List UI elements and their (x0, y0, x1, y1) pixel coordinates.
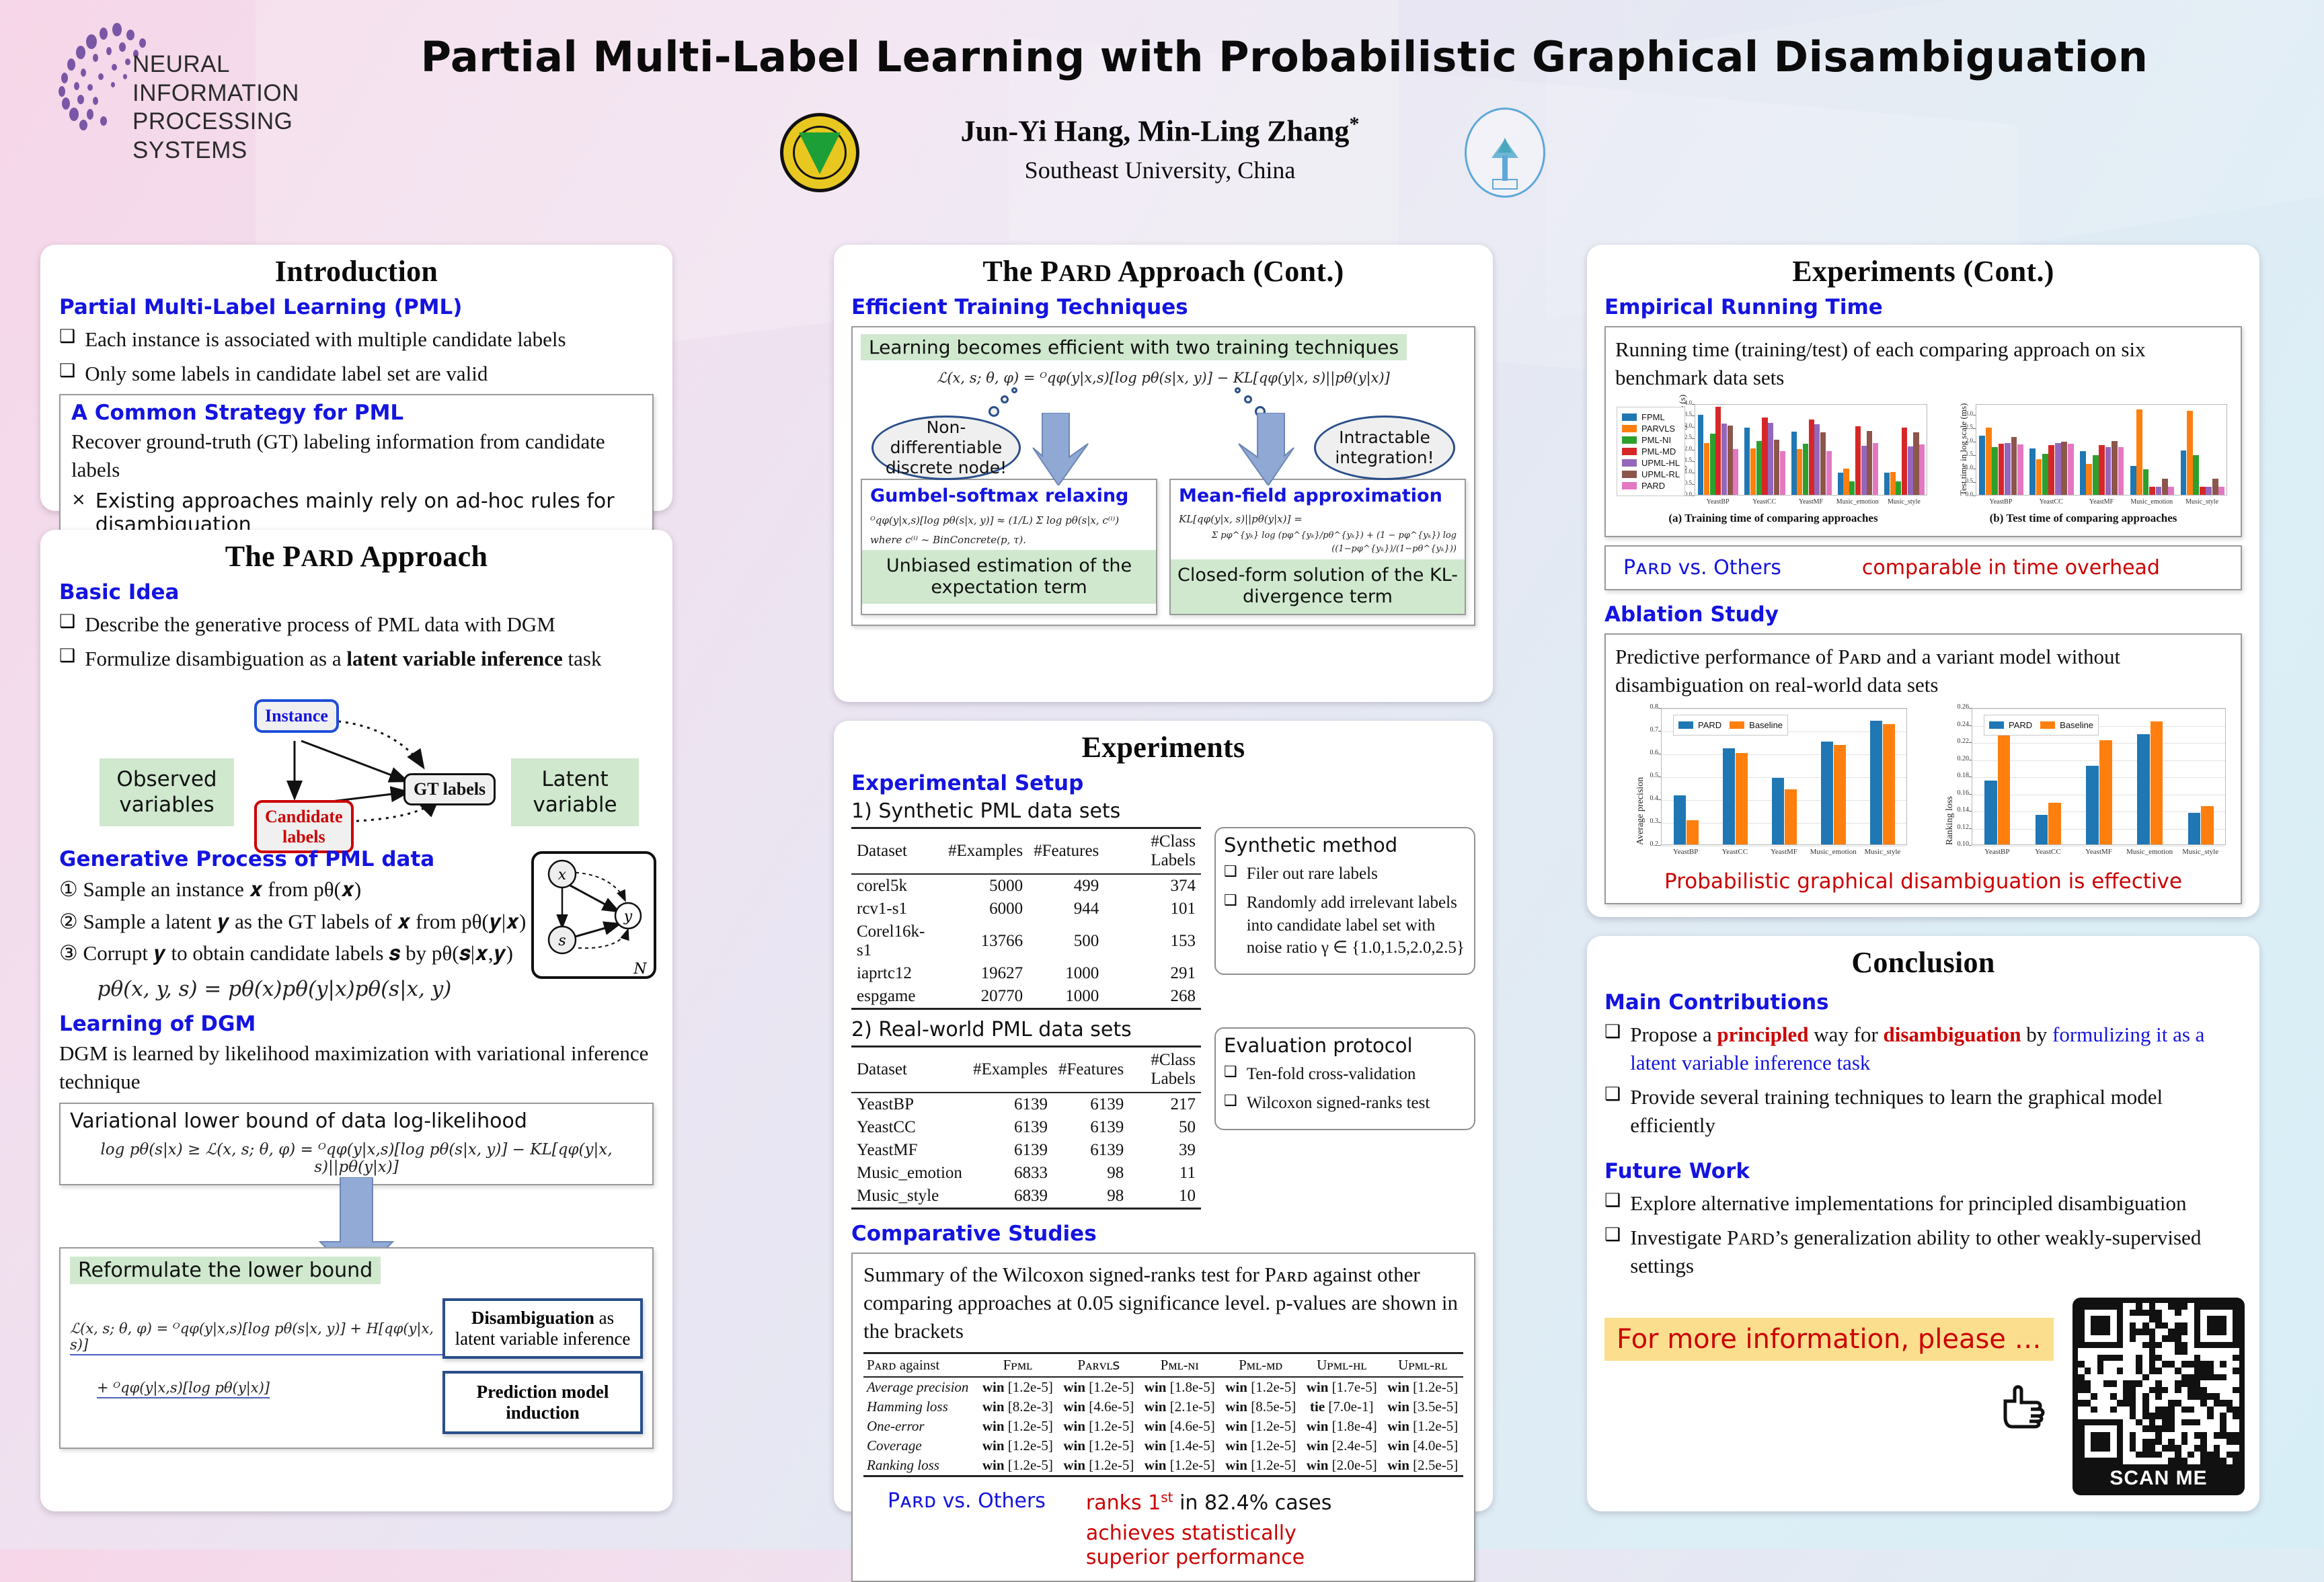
basic-idea-bullet-2: Formulize disambiguation as a latent var… (85, 645, 601, 673)
introduction-title: Introduction (40, 245, 672, 292)
y-tick-label: 0.14 (1946, 806, 1969, 814)
dgm-node-diagram: Instance GT labels Candidatelabels Obser… (40, 679, 672, 847)
table-row: Music_emotion68339811 (851, 1162, 1201, 1185)
gridline (1662, 709, 1906, 709)
checkbox-icon: ❑ (1604, 1083, 1621, 1106)
list-item: ❑ Describe the generative process of PML… (59, 610, 654, 639)
pard-approach-panel: The PARD Approach Basic Idea ❑ Describe … (40, 530, 672, 1511)
table-cell: win [4.0e-5] (1382, 1436, 1463, 1456)
table-cell: 217 (1129, 1093, 1201, 1116)
bar (2137, 734, 2150, 844)
running-time-box: Running time (training/test) of each com… (1604, 326, 2242, 537)
reformulate-equation-1: ℒ(x, s; θ, φ) = ᴼqφ(y|x,s)[log pθ(s|x, y… (70, 1320, 447, 1355)
y-tick-label: 1.0 (1958, 464, 1973, 471)
legend: FPMLPARVLSPML-NIPML-MDUPML-HLUPML-RLPARD (1617, 407, 1685, 496)
legend-item: Baseline (1730, 720, 1783, 730)
bar (1780, 451, 1785, 495)
x-tick-label: YeastMF (1787, 498, 1834, 506)
legend-swatch (1622, 471, 1637, 478)
bar (1873, 443, 1878, 495)
bar (2112, 441, 2118, 495)
y-tick (1658, 845, 1661, 846)
title-ard: ARD (1058, 260, 1112, 286)
bar (2036, 459, 2042, 494)
table-cell: 10 (1129, 1185, 1201, 1209)
x-tick-label: YeastBP (1972, 848, 2023, 856)
y-tick (1658, 731, 1661, 731)
wilcoxon-table: Pᴀʀᴅ againstFᴘᴍʟPᴀʀᴠʟꜱPᴍʟ-ɴɪPᴍʟ-ᴍᴅUᴘᴍʟ-ʜ… (863, 1352, 1463, 1477)
title-approach: Approach (354, 540, 488, 573)
verdict-left: Pᴀʀᴅ vs. Others (888, 1489, 1046, 1570)
legend-label: PML-MD (1641, 446, 1676, 457)
comparative-studies-box: Summary of the Wilcoxon signed-ranks tes… (851, 1253, 1475, 1582)
checkbox-icon: ❑ (1604, 1224, 1621, 1247)
running-time-verdict-box: Pᴀʀᴅ vs. Others comparable in time overh… (1604, 545, 2242, 590)
fw2-sc: ARD (1738, 1230, 1775, 1249)
y-tick-label: 0.16 (1946, 789, 1969, 797)
title-p: P (282, 540, 301, 573)
legend-item: PARD (1989, 720, 2032, 730)
table-cell: win [1.2e-5] (1058, 1417, 1139, 1436)
cloud-intractable: Intractable integration! (1314, 416, 1455, 480)
y-tick-label: 0.3 (1639, 818, 1658, 825)
table-cell: win [2.1e-5] (1139, 1397, 1220, 1417)
bubble-dot (1244, 395, 1252, 403)
bar (1838, 473, 1843, 494)
strategy-line-1: Recover ground-truth (GT) labeling infor… (71, 428, 642, 484)
table-cell: corel5k (851, 874, 943, 898)
table-cell: win [1.2e-5] (1221, 1436, 1301, 1456)
comparative-caption: Summary of the Wilcoxon signed-ranks tes… (863, 1261, 1463, 1345)
bar (1733, 449, 1738, 494)
gumbel-subheading: Gumbel-softmax relaxing (870, 485, 1148, 506)
node-instance: Instance (254, 699, 339, 733)
bar (1744, 428, 1750, 495)
legend-item: UPML-RL (1622, 469, 1680, 479)
reformulate-lower-bound-box: Reformulate the lower bound ℒ(x, s; θ, φ… (59, 1247, 654, 1449)
bar (1756, 441, 1762, 494)
checkbox-icon: ❑ (1224, 1063, 1237, 1080)
bar (2187, 411, 2193, 494)
table-cell: Hamming loss (863, 1397, 977, 1417)
table-cell: Corel16k-s1 (851, 920, 943, 962)
basic-idea-subheading: Basic Idea (59, 580, 654, 604)
y-tick-label: 0.4 (1639, 795, 1658, 802)
list-item: ❑ Wilcoxon signed-ranks test (1224, 1092, 1466, 1115)
y-tick (1973, 482, 1976, 483)
legend-label: FPML (1641, 412, 1665, 422)
author-names: Jun-Yi Hang, Min-Ling Zhang* (881, 113, 1439, 149)
arrow-down-left-icon (1030, 413, 1104, 485)
cross-icon: × (71, 489, 86, 510)
bar (2080, 451, 2086, 495)
palm-lab-logo-icon (1465, 108, 1545, 198)
bar (1870, 721, 1882, 845)
experiments-cont-panel: Experiments (Cont.) Empirical Running Ti… (1587, 245, 2259, 917)
bar (1986, 428, 1992, 495)
y-tick (1692, 427, 1695, 428)
table-row: corel5k5000499374 (851, 874, 1201, 898)
y-tick (1692, 496, 1695, 496)
bar (2162, 479, 2168, 495)
bar (2149, 487, 2155, 495)
x-tick-label: YeastCC (2023, 848, 2074, 856)
table-row: rcv1-s16000944101 (851, 898, 1201, 920)
ablation-verdict: Probabilistic graphical disambiguation i… (1615, 869, 2231, 894)
legend-item: PARVLS (1622, 424, 1680, 434)
y-tick (1692, 461, 1695, 462)
bar (1984, 781, 1997, 845)
x-tick-label: Music_emotion (2124, 848, 2175, 856)
y-tick (1969, 845, 1972, 846)
bar (1820, 432, 1826, 494)
reformulate-equation-2: + ᴼqφ(y|x,s)[log pθ(y|x)] (97, 1380, 270, 1398)
bar (2029, 448, 2036, 494)
checkbox-icon: ❑ (1604, 1021, 1621, 1043)
pml-bullet-1: Each instance is associated with multipl… (85, 325, 566, 354)
table-row: YeastCC6139613950 (851, 1116, 1201, 1139)
page-title: Partial Multi-Label Learning with Probab… (377, 32, 2192, 81)
bar (1896, 481, 1901, 495)
y-tick (1658, 754, 1661, 754)
pard-cont-main-equation: ℒ(x, s; θ, φ) = ᴼqφ(y|x,s)[log pθ(s|x, y… (861, 370, 1466, 386)
authors-block: Jun-Yi Hang, Min-Ling Zhang* Southeast U… (740, 108, 1580, 202)
y-tick (1973, 469, 1976, 469)
running-verdict-left: Pᴀʀᴅ vs. Others (1623, 556, 1781, 580)
title-the: The (982, 255, 1040, 288)
vlb-equation: log pθ(s|x) ≥ ℒ(x, s; θ, φ) = ᴼqφ(y|x,s)… (70, 1141, 643, 1176)
table-cell: 6000 (943, 898, 1028, 920)
bar (2099, 740, 2112, 845)
y-tick-label: 4.0 (1677, 399, 1692, 406)
conclusion-panel: Conclusion Main Contributions ❑ Propose … (1587, 936, 2259, 1511)
chart-ranking-loss: Ranking loss0.100.120.140.160.180.200.22… (1922, 704, 2231, 863)
list-item: ❑ Provide several training techniques to… (1604, 1083, 2242, 1140)
y-tick-label: 0.18 (1946, 772, 1969, 779)
meanfield-footer: Closed-form solution of the KL-divergenc… (1171, 559, 1465, 614)
bar (1849, 481, 1855, 495)
ablation-study-subheading: Ablation Study (1604, 602, 2242, 627)
experiments-cont-title: Experiments (Cont.) (1587, 245, 2259, 292)
legend-label: Baseline (1749, 720, 1783, 730)
table-cell: win [4.6e-5] (1139, 1417, 1220, 1436)
table-header-cell: Pᴍʟ-ɴɪ (1139, 1353, 1220, 1377)
checkbox-icon: ❑ (1224, 892, 1237, 909)
y-tick (1658, 708, 1661, 709)
bar (2206, 487, 2212, 495)
qr-code[interactable]: SCAN ME (2073, 1298, 2245, 1495)
checkbox-icon: ❑ (59, 360, 75, 383)
cloud-non-differentiable: Non-differentiable discrete node! (871, 416, 1021, 480)
legend-swatch (1678, 721, 1693, 729)
bubble-dot (1001, 395, 1009, 403)
bar (2017, 444, 2023, 495)
conclusion-title: Conclusion (1587, 936, 2259, 984)
bubble-dot (1235, 387, 1241, 393)
table-row: Average precisionwin [1.2e-5]win [1.2e-5… (863, 1377, 1463, 1397)
mc1-part1: Propose a (1630, 1023, 1717, 1046)
x-tick-label: YeastCC (1741, 498, 1787, 506)
reformulate-label: Reformulate the lower bound (70, 1257, 381, 1284)
table-row: Music_style68399810 (851, 1185, 1201, 1209)
node-gt-labels: GT labels (403, 773, 496, 805)
bar (1768, 423, 1773, 494)
y-tick (1969, 811, 1972, 812)
ablation-study-box: Predictive performance of Pᴀʀᴅ and a var… (1604, 633, 2242, 905)
legend-label: UPML-RL (1641, 469, 1680, 479)
legend-label: PML-NI (1641, 435, 1671, 445)
table-cell: 153 (1104, 920, 1201, 962)
svg-text:x: x (558, 867, 567, 883)
label-latent-variable: Latentvariable (511, 758, 639, 827)
legend-item: UPML-HL (1622, 458, 1680, 468)
table-cell: win [1.2e-5] (1221, 1417, 1301, 1436)
table-header-cell: Pᴀʀᴅ against (863, 1353, 977, 1377)
table-cell: Average precision (863, 1377, 977, 1397)
bubble-dot (1011, 387, 1017, 393)
table-cell: 6833 (968, 1162, 1053, 1185)
gumbel-footer: Unbiased estimation of the expectation t… (862, 550, 1156, 604)
table-cell: 98 (1053, 1185, 1129, 1209)
title-rest: Approach (Cont.) (1112, 255, 1344, 288)
bar (1728, 426, 1733, 495)
table-header-cell: Uᴘᴍʟ-ʀʟ (1382, 1353, 1463, 1377)
table-cell: win [1.8e-4] (1301, 1417, 1382, 1436)
pard-approach-title: The PARD Approach (40, 530, 672, 578)
col-features: #Features (1028, 828, 1104, 875)
verdict-rank-b: st (1161, 1489, 1173, 1505)
mc1-red2: disambiguation (1884, 1023, 2021, 1046)
bar (1687, 820, 1699, 844)
y-tick-label: 0.7 (1639, 726, 1658, 734)
legend-item: FPML (1622, 412, 1680, 422)
y-tick (1692, 416, 1695, 416)
table-cell: 944 (1028, 898, 1104, 920)
table-cell: Coverage (863, 1436, 977, 1456)
corresponding-star: * (1349, 113, 1359, 135)
x-tick-label: Music_emotion (1834, 498, 1881, 506)
author-names-text: Jun-Yi Hang, Min-Ling Zhang (961, 115, 1350, 148)
legend-swatch (1730, 721, 1744, 729)
bar (1979, 436, 1985, 495)
meanfield-equation-1: KL[qφ(y|x, s)||pθ(y|x)] = (1179, 513, 1457, 525)
table-cell: YeastCC (851, 1116, 968, 1139)
legend-label: PARD (1698, 720, 1721, 730)
bar (1698, 415, 1703, 494)
table-cell: 50 (1129, 1116, 1201, 1139)
legend-swatch (1622, 459, 1637, 467)
y-tick-label: 0.26 (1946, 703, 1969, 711)
table-cell: 11 (1129, 1162, 1201, 1185)
table-cell: YeastBP (851, 1093, 968, 1116)
verdict-rank: ranks 1st in 82.4% cases (1086, 1489, 1331, 1515)
legend-item: PARD (1622, 481, 1680, 491)
bar (2151, 721, 2163, 845)
bar (1890, 472, 1896, 495)
bubble-dot (989, 406, 999, 417)
eval-b1: Ten-fold cross-validation (1247, 1063, 1416, 1086)
eval-b2: Wilcoxon signed-ranks test (1247, 1092, 1430, 1115)
col-class-labels: #Class Labels (1129, 1047, 1201, 1093)
title-p: P (1040, 255, 1058, 288)
learning-dgm-subheading: Learning of DGM (59, 1012, 654, 1036)
legend-swatch (1622, 482, 1637, 489)
main-contributions-subheading: Main Contributions (1604, 990, 2242, 1015)
legend-item: PML-NI (1622, 435, 1680, 445)
x-tick-label: YeastBP (1661, 848, 1710, 856)
legend: PARDBaseline (1984, 715, 2099, 736)
synthetic-method-b2: Randomly add irrelevant labels into cand… (1247, 892, 1466, 959)
y-axis-label: Ranking loss (1945, 797, 1955, 846)
qr-label: SCAN ME (2078, 1464, 2239, 1495)
list-item: ❑ Propose a principled way for disambigu… (1604, 1021, 2242, 1077)
qr-matrix (2078, 1303, 2239, 1464)
node-candidate-labels: Candidatelabels (254, 800, 354, 854)
callout-disambiguation: Disambiguation as latent variable infere… (442, 1298, 643, 1359)
running-time-caption: Running time (training/test) of each com… (1615, 335, 2231, 392)
poster-header: NEURAL INFORMATION PROCESSING SYSTEMS Pa… (0, 0, 2324, 235)
synthetic-method-b1: Filer out rare labels (1247, 863, 1378, 885)
main-contribution-1: Propose a principled way for disambiguat… (1630, 1021, 2242, 1077)
bar (2181, 450, 2187, 495)
table-cell: win [1.4e-5] (1139, 1436, 1220, 1456)
table-cell: 39 (1129, 1139, 1201, 1162)
training-banner: Learning becomes efficient with two trai… (861, 334, 1407, 360)
bar (2099, 445, 2105, 495)
verdict-rank-c: in 82.4% cases (1173, 1491, 1332, 1515)
table-cell: win [1.2e-5] (1058, 1377, 1139, 1397)
table-cell: win [1.2e-5] (977, 1377, 1058, 1397)
chart-average-precision: Average precision0.20.30.40.50.60.70.8Ye… (1615, 704, 1912, 863)
vlb-title: Variational lower bound of data log-like… (70, 1109, 643, 1133)
bar (1821, 742, 1833, 844)
pard-cont-panel: The PARD Approach (Cont.) Efficient Trai… (834, 245, 1493, 702)
pointing-hand-icon (1994, 1380, 2055, 1440)
chart-caption: (b) Test time of comparing approaches (1935, 512, 2231, 525)
bar (2188, 813, 2201, 844)
table-cell: win [1.2e-5] (1221, 1377, 1301, 1397)
y-tick (1969, 708, 1972, 709)
table-row: YeastMF6139613939 (851, 1139, 1201, 1162)
table-cell: 98 (1053, 1162, 1129, 1185)
realworld-datasets-table: Dataset #Examples #Features #Class Label… (851, 1045, 1201, 1210)
meanfield-subheading: Mean-field approximation (1179, 485, 1457, 506)
bar (2143, 469, 2149, 495)
y-axis-label: Average precision (1635, 777, 1646, 845)
bar (2200, 487, 2206, 495)
table-row: YeastBP61396139217 (851, 1093, 1201, 1116)
table-row: Coveragewin [1.2e-5]win [1.2e-5]win [1.4… (863, 1436, 1463, 1456)
table-cell: 291 (1104, 962, 1201, 985)
table-cell: 6139 (968, 1116, 1053, 1139)
efficient-training-subheading: Efficient Training Techniques (851, 295, 1475, 319)
y-tick (1692, 450, 1695, 450)
main-contribution-2: Provide several training techniques to l… (1630, 1083, 2242, 1140)
table-header-cell: Fᴘᴍʟ (977, 1353, 1058, 1377)
bar (2105, 447, 2112, 495)
fw2-a: Investigate P (1630, 1226, 1738, 1249)
title-the: The (225, 540, 283, 573)
bar (1908, 446, 1913, 495)
legend-label: UPML-HL (1641, 458, 1680, 468)
table-cell: espgame (851, 985, 943, 1009)
gridline (1972, 846, 2225, 846)
neurips-line1: NEURAL INFORMATION (132, 50, 351, 108)
y-tick (1969, 828, 1972, 829)
experiments-panel: Experiments Experimental Setup 1) Synthe… (834, 721, 1493, 1511)
y-tick (1969, 777, 1972, 777)
bar (2130, 466, 2136, 495)
y-tick-label: 0.24 (1946, 721, 1969, 728)
legend-swatch (1622, 425, 1637, 432)
bar (1999, 444, 2005, 495)
bar (1803, 444, 1808, 494)
table-cell: 6839 (968, 1185, 1053, 1209)
bar (1809, 420, 1814, 495)
synthetic-heading: 1) Synthetic PML data sets (851, 799, 1475, 823)
table-cell: 19627 (943, 962, 1028, 985)
bar (1774, 440, 1779, 495)
y-tick-label: 2.0 (1958, 437, 1973, 444)
list-item: ❑ Explore alternative implementations fo… (1604, 1189, 2242, 1218)
y-tick-label: 0.8 (1639, 703, 1658, 711)
table-cell: YeastMF (851, 1139, 968, 1162)
bar (2005, 443, 2011, 494)
bar (1785, 789, 1797, 844)
y-tick (1969, 760, 1972, 760)
bar (2193, 455, 2199, 495)
bar (2011, 437, 2017, 495)
gridline (1972, 709, 2225, 709)
col-dataset: Dataset (851, 1047, 968, 1093)
generative-equation: pθ(x, y, s) = pθ(x)pθ(y|x)pθ(s|x, y) (59, 977, 490, 1001)
callout-bold: Disambiguation (471, 1308, 594, 1328)
gumbel-equation-1: ᴼqφ(y|x,s)[log pθ(s|x, y)] ≈ (1/L) Σ log… (870, 513, 1148, 528)
table-cell: win [4.6e-5] (1058, 1397, 1139, 1417)
table-cell: win [1.2e-5] (1139, 1456, 1220, 1476)
table-row: Ranking losswin [1.2e-5]win [1.2e-5]win … (863, 1456, 1463, 1476)
table-cell: win [2.5e-5] (1382, 1456, 1463, 1476)
bar (2036, 815, 2048, 845)
y-tick (1969, 794, 1972, 795)
legend-swatch (1622, 413, 1637, 421)
legend-swatch (1989, 721, 2004, 729)
col-features: #Features (1053, 1047, 1129, 1093)
col-examples: #Examples (943, 828, 1028, 875)
table-cell: win [2.0e-5] (1301, 1456, 1382, 1476)
table-header-cell: Pᴍʟ-ᴍᴅ (1221, 1353, 1301, 1377)
bar (2086, 766, 2099, 844)
x-tick-label: YeastMF (1759, 848, 1808, 856)
mc1-part2: way for (1808, 1023, 1883, 1046)
bar (2118, 447, 2124, 495)
table-cell: 13766 (943, 920, 1028, 962)
table-cell: win [1.8e-5] (1139, 1377, 1220, 1397)
svg-text:N: N (633, 961, 647, 978)
legend-label: PARD (2009, 720, 2032, 730)
table-cell: 1000 (1028, 985, 1104, 1009)
bar (1855, 426, 1861, 495)
table-cell: win [1.2e-5] (977, 1436, 1058, 1456)
table-cell: 6139 (968, 1093, 1053, 1116)
gumbel-equation-2: where c⁽ⁱ⁾ ~ BinConcrete(p, τ). (870, 534, 1148, 546)
table-cell: 6139 (1053, 1139, 1129, 1162)
table-cell: 1000 (1028, 962, 1104, 985)
bar (1723, 748, 1735, 844)
bar (1750, 448, 1756, 495)
checkbox-icon: ❑ (1224, 1092, 1237, 1109)
list-item: ❑ Filer out rare labels (1224, 863, 1466, 885)
